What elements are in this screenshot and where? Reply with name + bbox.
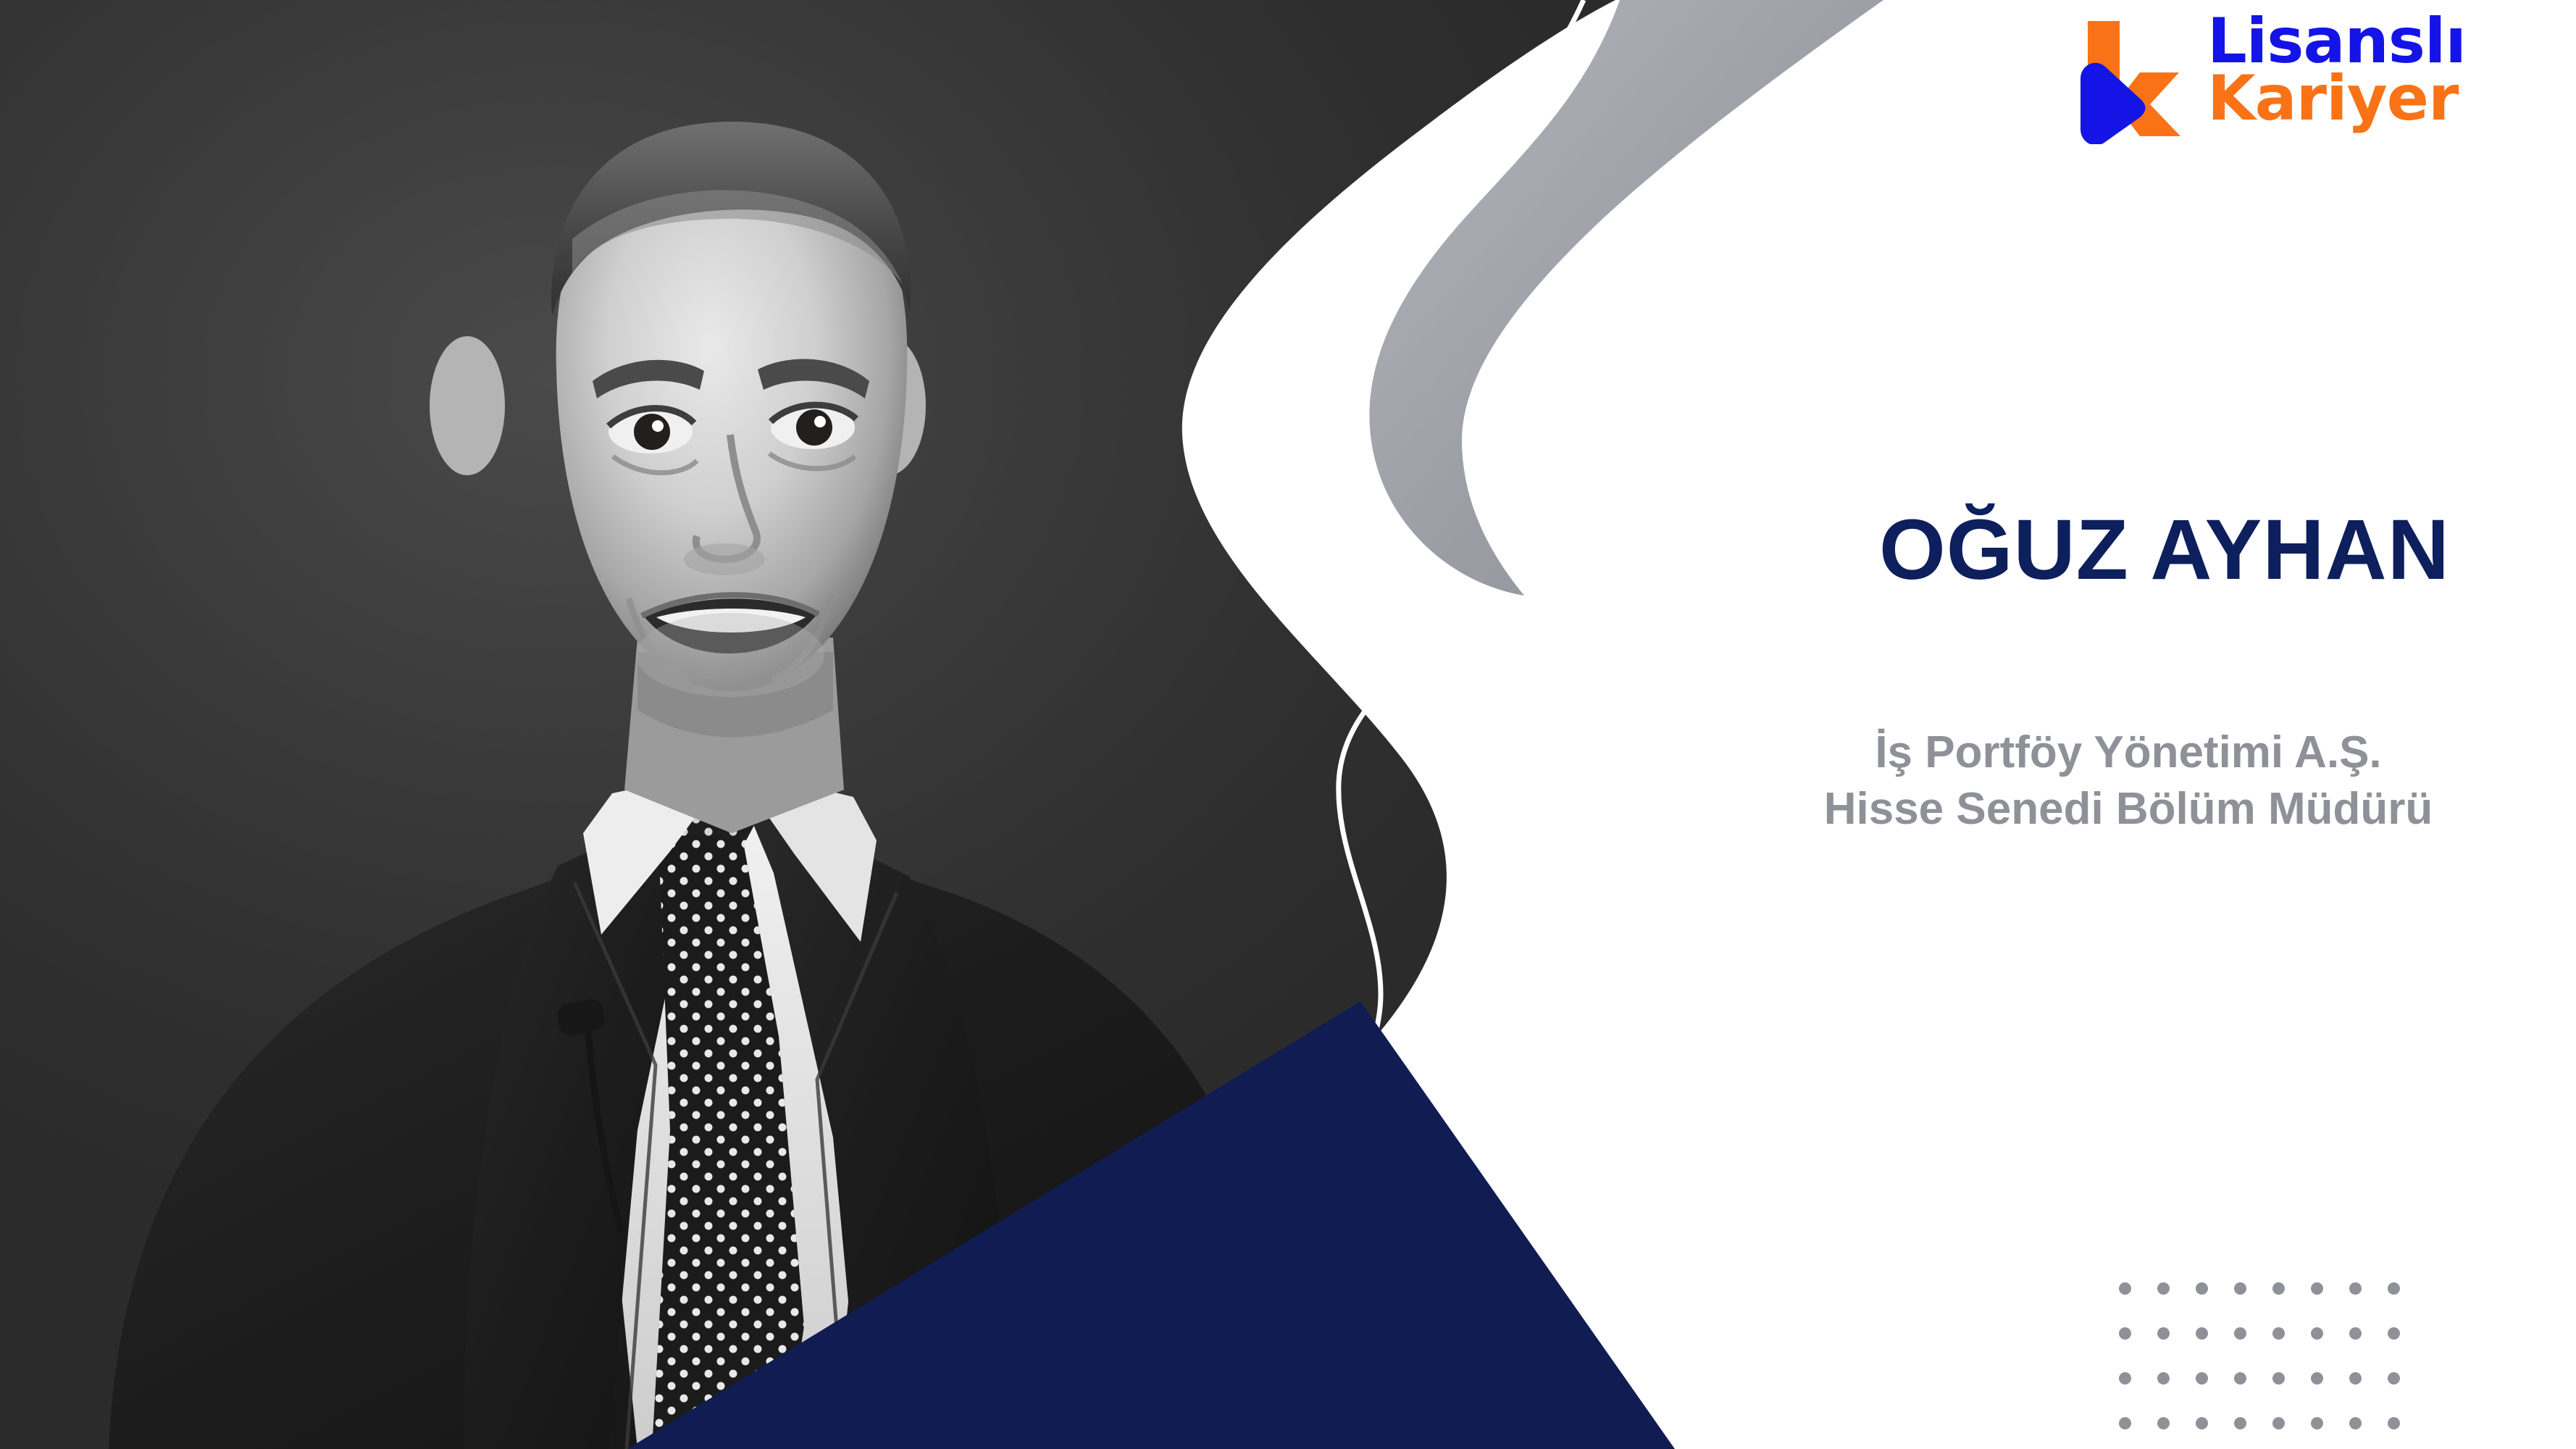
grid-dot [2349, 1282, 2362, 1295]
grid-dot [2272, 1417, 2285, 1429]
grid-dot [2196, 1372, 2208, 1385]
grid-dot [2157, 1282, 2170, 1295]
lower-third-slide: OĞUZ AYHAN İş Portföy Yönetimi A.Ş. Hiss… [0, 0, 2576, 1449]
grid-dot [2272, 1372, 2285, 1385]
grid-dot [2196, 1327, 2208, 1340]
brand-logo[interactable]: Lisanslı Kariyer [2065, 10, 2466, 144]
grid-dot [2234, 1327, 2246, 1340]
grid-dot [2119, 1327, 2131, 1340]
grid-dot [2388, 1327, 2400, 1340]
grid-dot [2349, 1327, 2362, 1340]
grid-dot [2388, 1417, 2400, 1429]
dot-grid-decoration [2119, 1282, 2426, 1449]
grid-dot [2157, 1417, 2170, 1429]
speaker-role: İş Portföy Yönetimi A.Ş. Hisse Senedi Bö… [1723, 724, 2534, 838]
speaker-name: OĞUZ AYHAN [1795, 507, 2534, 593]
grid-dot [2311, 1282, 2323, 1295]
grid-dot [2388, 1372, 2400, 1385]
logo-wordmark: Lisanslı Kariyer [2207, 10, 2466, 128]
grid-dot [2272, 1282, 2285, 1295]
grid-dot [2234, 1417, 2246, 1429]
grid-dot [2272, 1327, 2285, 1340]
grid-dot [2388, 1282, 2400, 1295]
grid-dot [2119, 1372, 2131, 1385]
grid-dot [2119, 1417, 2131, 1429]
grid-dot [2311, 1372, 2323, 1385]
grid-dot [2157, 1372, 2170, 1385]
grid-dot [2234, 1282, 2246, 1295]
grid-dot [2349, 1372, 2362, 1385]
grid-dot [2311, 1417, 2323, 1429]
grid-dot [2119, 1282, 2131, 1295]
lisansli-kariyer-k-mark-icon [2065, 10, 2191, 144]
speaker-role-line-2: Hisse Senedi Bölüm Müdürü [1723, 781, 2534, 838]
logo-word-kariyer: Kariyer [2207, 70, 2466, 128]
grid-dot [2311, 1327, 2323, 1340]
grid-dot [2196, 1282, 2208, 1295]
grid-dot [2234, 1372, 2246, 1385]
grid-dot [2349, 1417, 2362, 1429]
speaker-role-line-1: İş Portföy Yönetimi A.Ş. [1723, 724, 2534, 781]
grid-dot [2157, 1327, 2170, 1340]
grid-dot [2196, 1417, 2208, 1429]
